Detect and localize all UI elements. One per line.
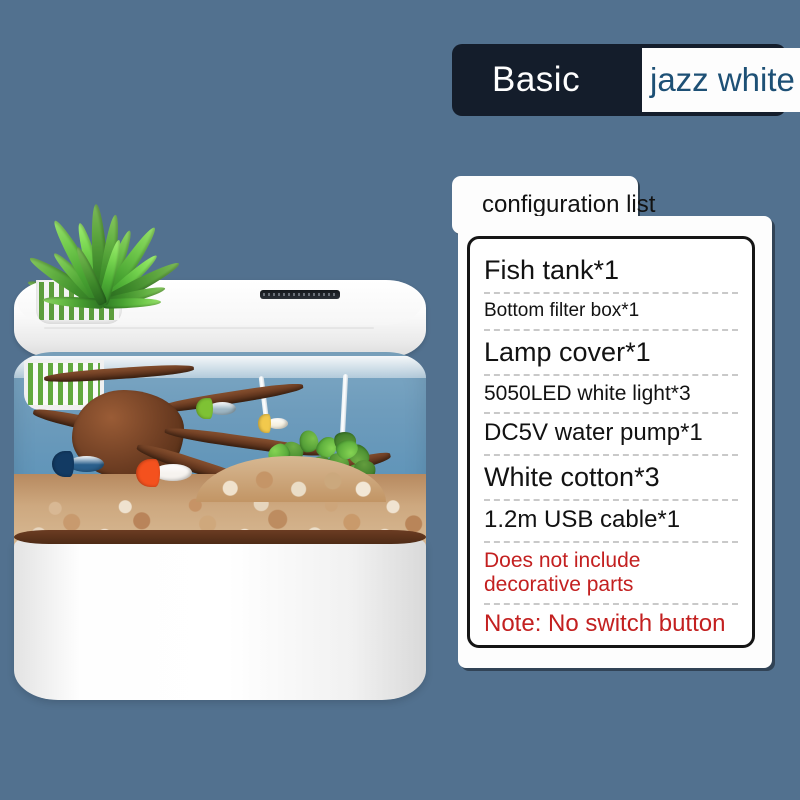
lid-seam (44, 327, 374, 329)
fish-tail (258, 414, 271, 432)
config-list-separator (484, 412, 738, 414)
tank-base (14, 538, 426, 700)
lid-vent-slot (260, 290, 340, 299)
config-list-item: DC5V water pump*1 (484, 420, 738, 449)
config-list-item: 1.2m USB cable*1 (484, 507, 738, 536)
config-list-separator (484, 454, 738, 456)
config-list-separator (484, 499, 738, 501)
config-list-item: Lamp cover*1 (484, 337, 738, 369)
fish-tail (136, 459, 160, 487)
config-list-item: Does not include decorative parts (484, 549, 738, 598)
config-list-separator (484, 329, 738, 331)
variant-label: Basic (492, 60, 580, 100)
base-rim (14, 530, 426, 544)
variant-chip-label: jazz white (650, 61, 795, 99)
orange-guppy (136, 464, 192, 481)
tank-glass-body (14, 352, 426, 552)
config-list-separator (484, 645, 738, 647)
fish-tail (196, 398, 213, 419)
product-photo-aquarium (0, 140, 440, 700)
green-guppy (196, 402, 236, 415)
config-list-separator (484, 374, 738, 376)
product-image-canvas: Basic jazz white configuration list Fish… (0, 0, 800, 800)
configuration-list-inner: Fish tank*1Bottom filter box*1Lamp cover… (467, 236, 755, 648)
fish-tail (52, 451, 74, 477)
yellow-guppy (258, 418, 288, 429)
config-list-item: Fish tank*1 (484, 255, 738, 287)
config-list-item: 5050LED white light*3 (484, 382, 738, 408)
blue-guppy (52, 456, 104, 472)
configuration-list-card: Fish tank*1Bottom filter box*1Lamp cover… (458, 216, 772, 668)
variant-header-banner: Basic jazz white (452, 44, 786, 116)
config-list-separator (484, 541, 738, 543)
variant-chip[interactable]: jazz white (642, 48, 800, 112)
configuration-list-title: configuration list (482, 191, 655, 219)
config-list-item: Bottom filter box*1 (484, 300, 738, 323)
config-list-item: White cotton*3 (484, 462, 738, 494)
config-list-item: Note: No switch button (484, 611, 738, 640)
config-list-separator (484, 603, 738, 605)
config-list-separator (484, 292, 738, 294)
